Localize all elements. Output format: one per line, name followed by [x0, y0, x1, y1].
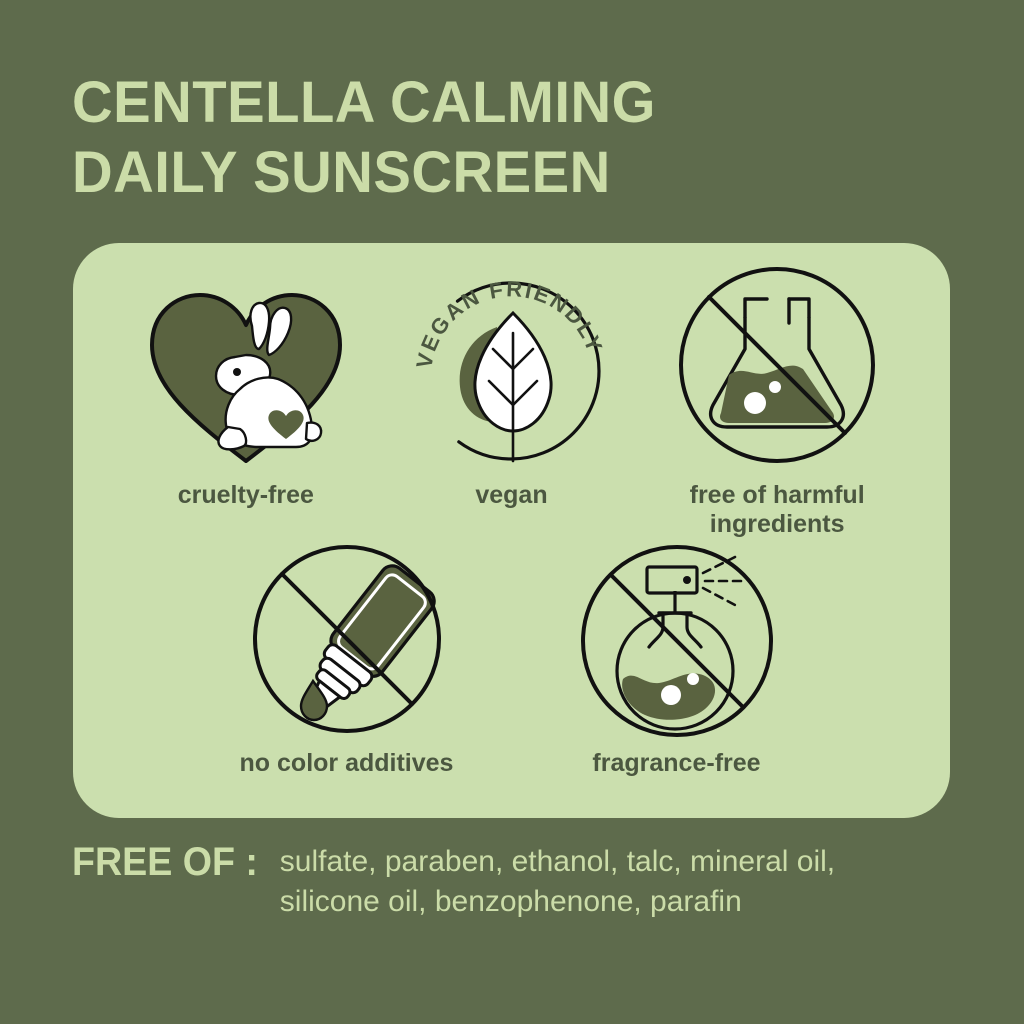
- badge-free-of-harmful-ingredients: free of harmful ingredients: [652, 265, 902, 539]
- vegan-leaf-icon: VEGAN FRIENDLY: [401, 265, 621, 475]
- no-flask-icon: [667, 265, 887, 475]
- badge-panel: cruelty-free: [73, 243, 950, 818]
- title-line-1: CENTELLA CALMING: [72, 68, 926, 138]
- badge-label-no-color-additives: no color additives: [240, 749, 454, 778]
- badge-label-free-of-harmful-ingredients: free of harmful ingredients: [690, 481, 865, 539]
- label-line-2: ingredients: [710, 510, 845, 538]
- badge-fragrance-free: fragrance-free: [552, 543, 802, 778]
- badge-label-vegan: vegan: [475, 481, 547, 510]
- badge-label-cruelty-free: cruelty-free: [178, 481, 314, 510]
- heart-rabbit-icon: [136, 265, 356, 475]
- no-perfume-icon: [567, 543, 787, 743]
- free-of-list-line-2: silicone oil, benzophenone, parafin: [280, 882, 835, 922]
- free-of-list-line-1: sulfate, paraben, ethanol, talc, mineral…: [280, 842, 835, 882]
- free-of-section: FREE OF : sulfate, paraben, ethanol, tal…: [72, 838, 972, 922]
- free-of-heading: FREE OF :: [72, 838, 258, 886]
- badge-row-2: no color additives: [73, 543, 950, 778]
- free-of-list: sulfate, paraben, ethanol, talc, mineral…: [280, 842, 835, 922]
- no-dropper-icon: [237, 543, 457, 743]
- page-title: CENTELLA CALMING DAILY SUNSCREEN: [72, 68, 952, 208]
- title-line-2: DAILY SUNSCREEN: [72, 138, 926, 208]
- badge-no-color-additives: no color additives: [222, 543, 472, 778]
- label-line-1: free of harmful: [690, 481, 865, 509]
- badge-row-1: cruelty-free: [73, 265, 950, 539]
- badge-vegan: VEGAN FRIENDLY vegan: [386, 265, 636, 539]
- badge-cruelty-free: cruelty-free: [121, 265, 371, 539]
- badge-label-fragrance-free: fragrance-free: [592, 749, 760, 778]
